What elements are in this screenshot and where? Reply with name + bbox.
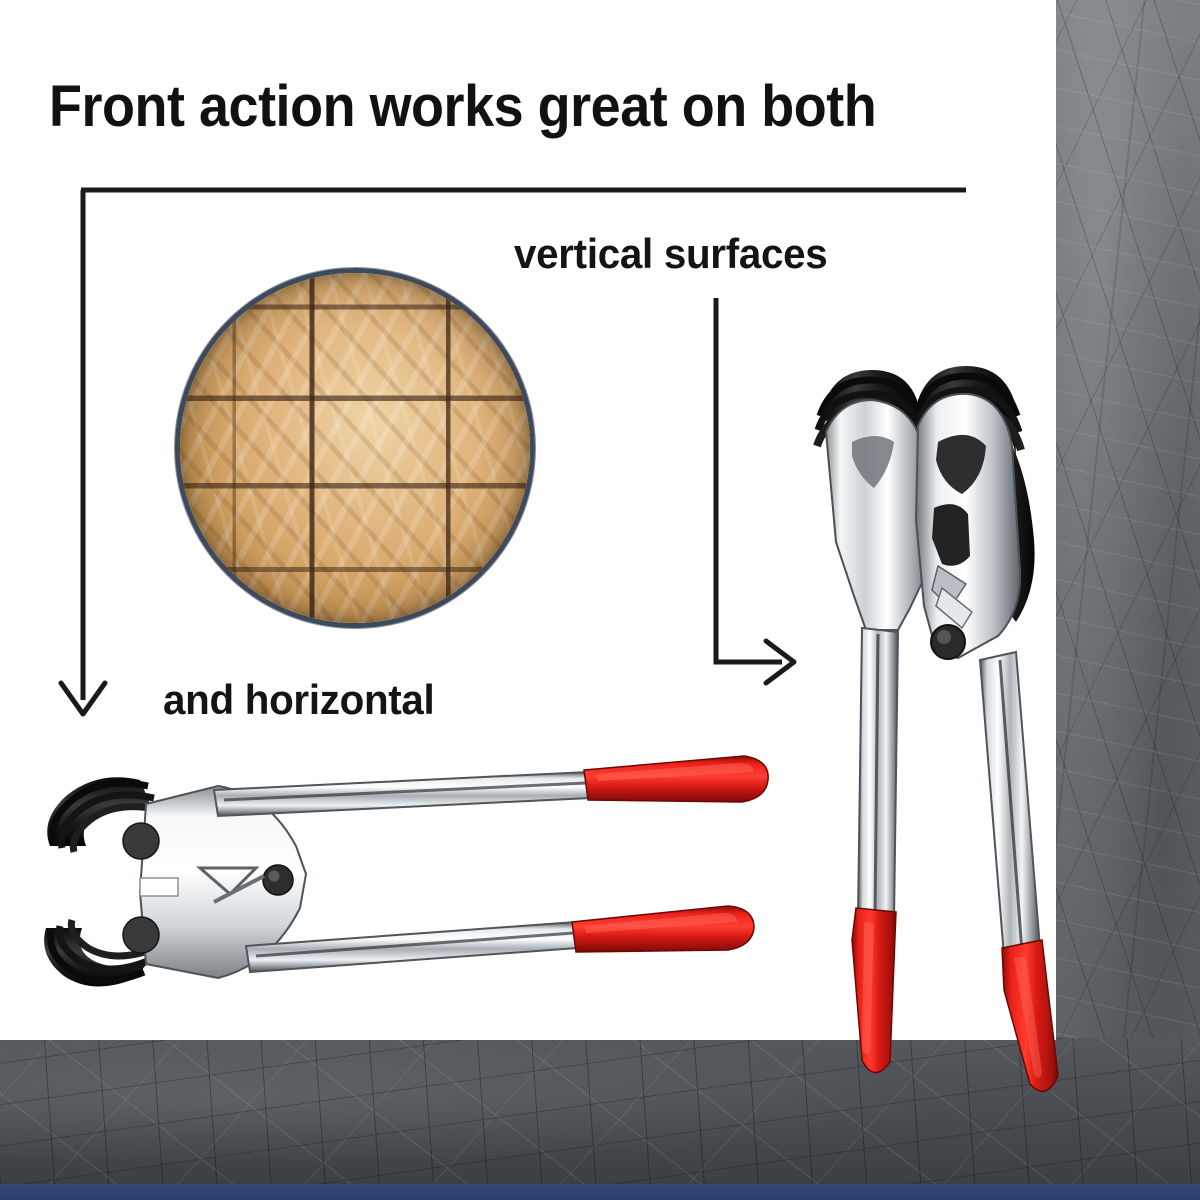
strapping-tool-vertical bbox=[790, 360, 1080, 1100]
handle-grip-left bbox=[852, 908, 896, 1073]
photo-vignette bbox=[180, 273, 530, 623]
strapping-tool-horizontal bbox=[28, 750, 818, 1050]
pivot-rivet-highlight bbox=[937, 630, 951, 644]
infographic-canvas: Front action works great on both vertica… bbox=[0, 0, 1200, 1200]
circular-photo-inset bbox=[175, 268, 535, 628]
callout-vertical-surfaces: vertical surfaces bbox=[514, 230, 827, 278]
rivet-pivot-highlight bbox=[269, 871, 280, 882]
rivet-upper bbox=[123, 823, 159, 859]
rivet-lower bbox=[123, 917, 159, 953]
handle-shaft-upper bbox=[214, 772, 590, 816]
jaw-notch bbox=[140, 878, 178, 896]
jaw-body-left bbox=[826, 400, 928, 630]
footer-bar bbox=[0, 1184, 1200, 1200]
rivet-pivot bbox=[263, 865, 293, 895]
callout-and-horizontal: and horizontal bbox=[163, 676, 434, 724]
page-title: Front action works great on both bbox=[49, 76, 876, 138]
handle-shaft-lower bbox=[246, 922, 578, 972]
